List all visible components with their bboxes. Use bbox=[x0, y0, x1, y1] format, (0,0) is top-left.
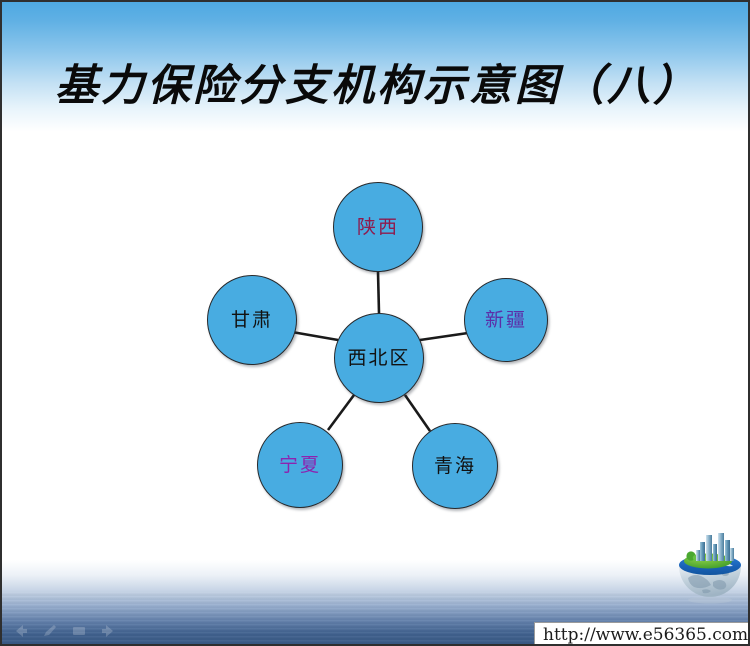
node-gansu[interactable]: 甘肃 bbox=[207, 275, 297, 365]
node-label-xinjiang: 新疆 bbox=[485, 311, 527, 330]
edge-center-to-qinghai bbox=[405, 395, 430, 431]
edge-center-to-gansu bbox=[292, 332, 338, 340]
node-label-gansu: 甘肃 bbox=[231, 311, 273, 330]
node-label-center: 西北区 bbox=[347, 349, 410, 368]
pen-icon[interactable] bbox=[41, 623, 59, 639]
presentation-slide: 基力保险分支机构示意图（八） 西北区 陕西 bbox=[0, 0, 750, 646]
node-qinghai[interactable]: 青海 bbox=[412, 423, 498, 509]
website-url-band[interactable]: http://www.e56365.com bbox=[534, 622, 750, 646]
node-label-qinghai: 青海 bbox=[434, 457, 476, 476]
node-shaanxi[interactable]: 陕西 bbox=[333, 182, 423, 272]
city-skyline bbox=[696, 533, 734, 561]
slideshow-controls[interactable] bbox=[12, 620, 118, 642]
node-ningxia[interactable]: 宁夏 bbox=[257, 422, 343, 508]
node-xinjiang[interactable]: 新疆 bbox=[464, 278, 548, 362]
edge-center-to-xinjiang bbox=[420, 333, 468, 340]
node-label-shaanxi: 陕西 bbox=[357, 218, 399, 237]
node-center-northwest-region[interactable]: 西北区 bbox=[334, 313, 424, 403]
org-chart-diagram: 西北区 陕西 新疆 甘肃 宁夏 青海 bbox=[2, 2, 750, 646]
edge-center-to-ningxia bbox=[328, 395, 354, 430]
arrow-right-icon[interactable] bbox=[99, 623, 117, 639]
arrow-left-icon[interactable] bbox=[12, 623, 30, 639]
node-label-ningxia: 宁夏 bbox=[279, 456, 321, 475]
website-url-text: http://www.e56365.com bbox=[543, 625, 748, 645]
edge-center-to-shaanxi bbox=[378, 272, 379, 313]
globe-city-logo bbox=[672, 530, 748, 606]
box-icon[interactable] bbox=[70, 623, 88, 639]
logo-reflection bbox=[688, 597, 732, 604]
